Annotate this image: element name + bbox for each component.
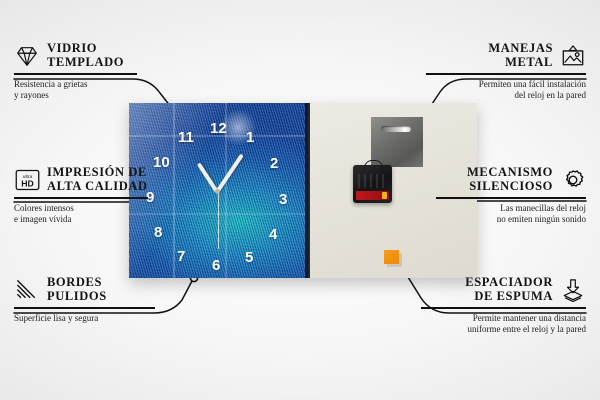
feature-impresion-alta-calidad: ultra HD IMPRESIÓN DE ALTA CALIDAD Color… [14, 166, 148, 225]
feature-manejas-metal: MANEJAS METAL Permiten una fácil instala… [426, 42, 586, 101]
foam-spacer [384, 250, 399, 264]
feature-title: VIDRIO TEMPLADO [47, 42, 124, 69]
clock-center-hub [215, 189, 220, 194]
feature-title: ESPACIADOR DE ESPUMA [465, 276, 553, 303]
feature-description: Permite mantener una distancia uniforme … [421, 313, 586, 335]
movement-detail [358, 174, 387, 188]
feature-mecanismo-silencioso: MECANISMO SILENCIOSO Las manecillas del … [436, 166, 586, 225]
clock-numeral: 1 [246, 130, 254, 145]
polished-edges-icon [14, 278, 40, 302]
feature-divider [14, 73, 137, 75]
feature-title: MECANISMO SILENCIOSO [467, 166, 553, 193]
clock-numeral: 11 [178, 130, 194, 145]
feature-description: Resistencia a grietas y rayones [14, 79, 137, 101]
product-photo: 12 1 2 3 4 5 6 7 8 9 10 11 [129, 103, 477, 278]
clock-numeral: 3 [279, 192, 287, 207]
clock-numeral: 6 [212, 258, 220, 273]
clock-numeral: 7 [177, 249, 185, 264]
feature-divider [421, 307, 586, 309]
feature-divider [426, 73, 586, 75]
clock-numeral: 12 [210, 121, 227, 136]
battery-strip [356, 191, 389, 200]
clock-numeral: 2 [270, 156, 278, 171]
svg-text:HD: HD [21, 178, 33, 188]
battery-tip [382, 192, 387, 199]
feature-divider [436, 197, 586, 199]
hanger-slot [381, 126, 411, 132]
feature-divider [14, 197, 148, 199]
clock-numeral: 10 [153, 155, 170, 170]
feature-bordes-pulidos: BORDES PULIDOS Superficie lisa y segura [14, 276, 155, 324]
feature-title: BORDES PULIDOS [47, 276, 107, 303]
clock-second-hand [218, 191, 219, 249]
quartz-movement-box [353, 165, 392, 203]
clock-numeral: 8 [154, 225, 162, 240]
feature-description: Superficie lisa y segura [14, 313, 155, 324]
gear-icon [560, 168, 586, 192]
clock-front-view: 12 1 2 3 4 5 6 7 8 9 10 11 [129, 103, 305, 278]
clock-minute-hand [215, 154, 243, 194]
feature-divider [14, 307, 155, 309]
clock-numeral: 5 [245, 250, 253, 265]
feature-description: Colores intensos e imagen vívida [14, 203, 148, 225]
movement-hook [364, 160, 383, 169]
metal-hanger-plate [371, 117, 423, 167]
feature-espaciador-espuma: ESPACIADOR DE ESPUMA Permite mantener un… [421, 276, 586, 335]
feature-vidrio-templado: VIDRIO TEMPLADO Resistencia a grietas y … [14, 42, 137, 101]
feature-description: Las manecillas del reloj no emiten ningú… [436, 203, 586, 225]
diamond-icon [14, 44, 40, 68]
feature-description: Permiten una fácil instalación del reloj… [426, 79, 586, 101]
picture-hanger-icon [560, 44, 586, 68]
ultra-hd-icon: ultra HD [14, 168, 40, 192]
clock-numeral: 4 [269, 227, 277, 242]
infographic-canvas: 12 1 2 3 4 5 6 7 8 9 10 11 [0, 0, 600, 400]
feature-title: MANEJAS METAL [488, 42, 553, 69]
foam-spacer-icon [560, 278, 586, 302]
feature-title: IMPRESIÓN DE ALTA CALIDAD [47, 166, 148, 193]
